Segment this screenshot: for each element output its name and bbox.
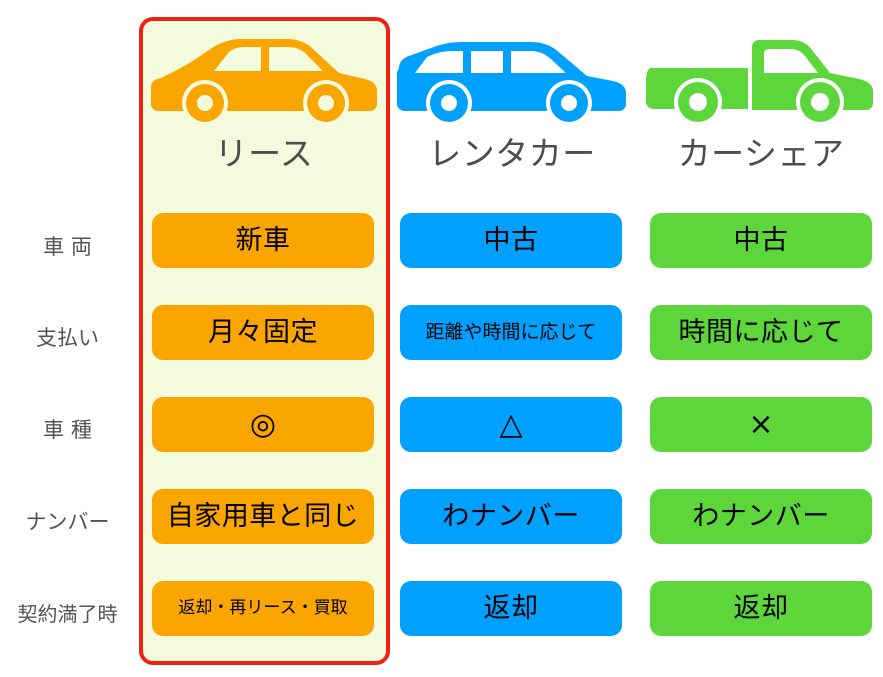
cell-rentacar-contract-end: 返却 [400,581,622,636]
wagon-car-icon [391,24,633,128]
double-circle-icon: ◎ [250,410,276,440]
row-label-contract-end-text: 契約満了時 [18,602,118,626]
cell-carshare-car-type: × [650,397,872,452]
row-label-license-plate-text: ナンバー [26,510,110,534]
cell-text: 新車 [236,227,291,254]
cell-carshare-vehicle: 中古 [650,213,872,268]
row-label-vehicle-text: 車 両 [43,235,92,259]
cell-text: わナンバー [442,503,580,530]
cell-text: 時間に応じて [679,319,844,346]
sedan-car-icon [143,24,385,128]
cell-rentacar-license-plate: わナンバー [400,489,622,544]
cell-rentacar-vehicle: 中古 [400,213,622,268]
row-label-payment-text: 支払い [36,326,99,350]
comparison-table-infographic: リース [0,0,883,677]
cell-carshare-license-plate: わナンバー [650,489,872,544]
column-title-lease: リース [143,128,385,180]
cell-text: わナンバー [692,503,830,530]
cell-rentacar-payment: 距離や時間に応じて [400,305,622,360]
cell-lease-vehicle: 新車 [152,213,374,268]
cell-text: 月々固定 [208,319,318,346]
row-label-vehicle: 車 両 [0,231,135,261]
cell-lease-car-type: ◎ [152,397,374,452]
pickup-truck-icon [640,24,882,128]
column-header-rentacar: レンタカー [391,24,633,196]
triangle-icon: △ [499,410,522,440]
row-label-car-type-text: 車 種 [43,418,92,442]
row-label-payment: 支払い [0,322,135,352]
cell-lease-contract-end: 返却・再リース・買取 [152,581,374,636]
cell-text: 自家用車と同じ [167,503,360,530]
column-title-carshare: カーシェア [640,128,882,180]
cell-lease-license-plate: 自家用車と同じ [152,489,374,544]
column-header-lease: リース [143,24,385,196]
cell-text: 距離や時間に応じて [425,323,596,342]
cell-text: 返却・再リース・買取 [178,600,347,617]
row-label-car-type: 車 種 [0,414,135,444]
cell-rentacar-car-type: △ [400,397,622,452]
column-title-rentacar: レンタカー [391,128,633,180]
cell-text: 中古 [734,227,789,254]
cell-carshare-payment: 時間に応じて [650,305,872,360]
column-header-carshare: カーシェア [640,24,882,196]
row-label-contract-end: 契約満了時 [0,598,135,627]
cell-text: 返却 [484,595,539,622]
cell-lease-payment: 月々固定 [152,305,374,360]
row-label-license-plate: ナンバー [0,506,135,536]
cell-carshare-contract-end: 返却 [650,581,872,636]
cross-icon: × [748,410,773,440]
cell-text: 返却 [734,595,789,622]
cell-text: 中古 [484,227,539,254]
